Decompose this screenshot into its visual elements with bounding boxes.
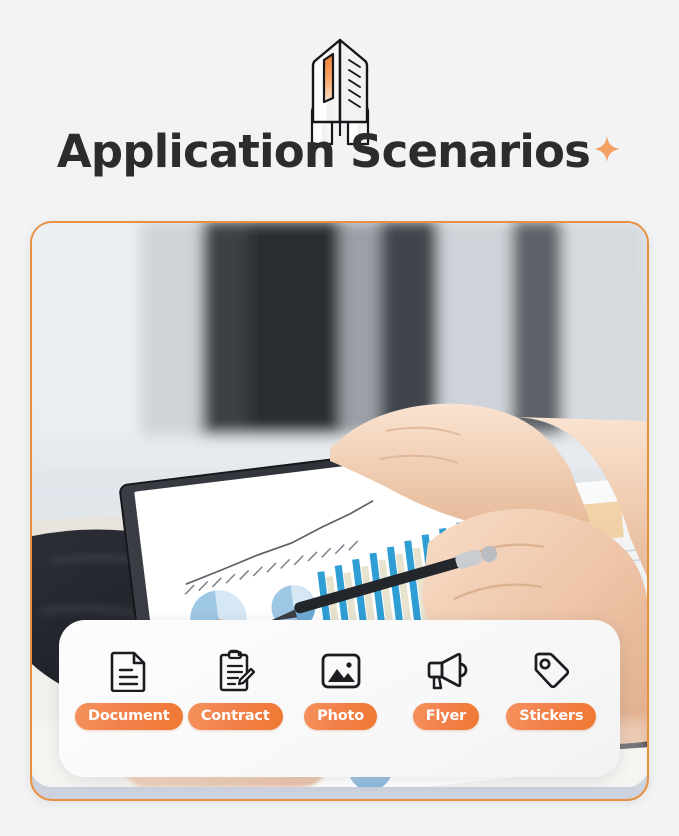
category-label-photo[interactable]: Photo bbox=[304, 703, 377, 730]
megaphone-icon bbox=[424, 648, 468, 694]
category-card: Document Contract bbox=[59, 620, 620, 777]
category-label-contract[interactable]: Contract bbox=[188, 703, 283, 730]
category-item-photo[interactable]: Photo bbox=[288, 648, 393, 730]
title-row: Application Scenarios bbox=[0, 128, 679, 175]
category-item-flyer[interactable]: Flyer bbox=[393, 648, 498, 730]
document-icon bbox=[110, 648, 148, 694]
clipboard-pencil-icon bbox=[215, 648, 255, 694]
price-tag-icon bbox=[530, 648, 572, 694]
category-item-stickers[interactable]: Stickers bbox=[499, 648, 604, 730]
page-title: Application Scenarios bbox=[57, 128, 590, 175]
category-item-document[interactable]: Document bbox=[75, 648, 183, 730]
page-header: Application Scenarios bbox=[0, 0, 679, 206]
category-label-stickers[interactable]: Stickers bbox=[506, 703, 596, 730]
category-item-contract[interactable]: Contract bbox=[183, 648, 288, 730]
sparkle-icon bbox=[592, 134, 622, 169]
category-label-document[interactable]: Document bbox=[75, 703, 183, 730]
image-icon bbox=[320, 648, 362, 694]
category-label-flyer[interactable]: Flyer bbox=[413, 703, 479, 730]
